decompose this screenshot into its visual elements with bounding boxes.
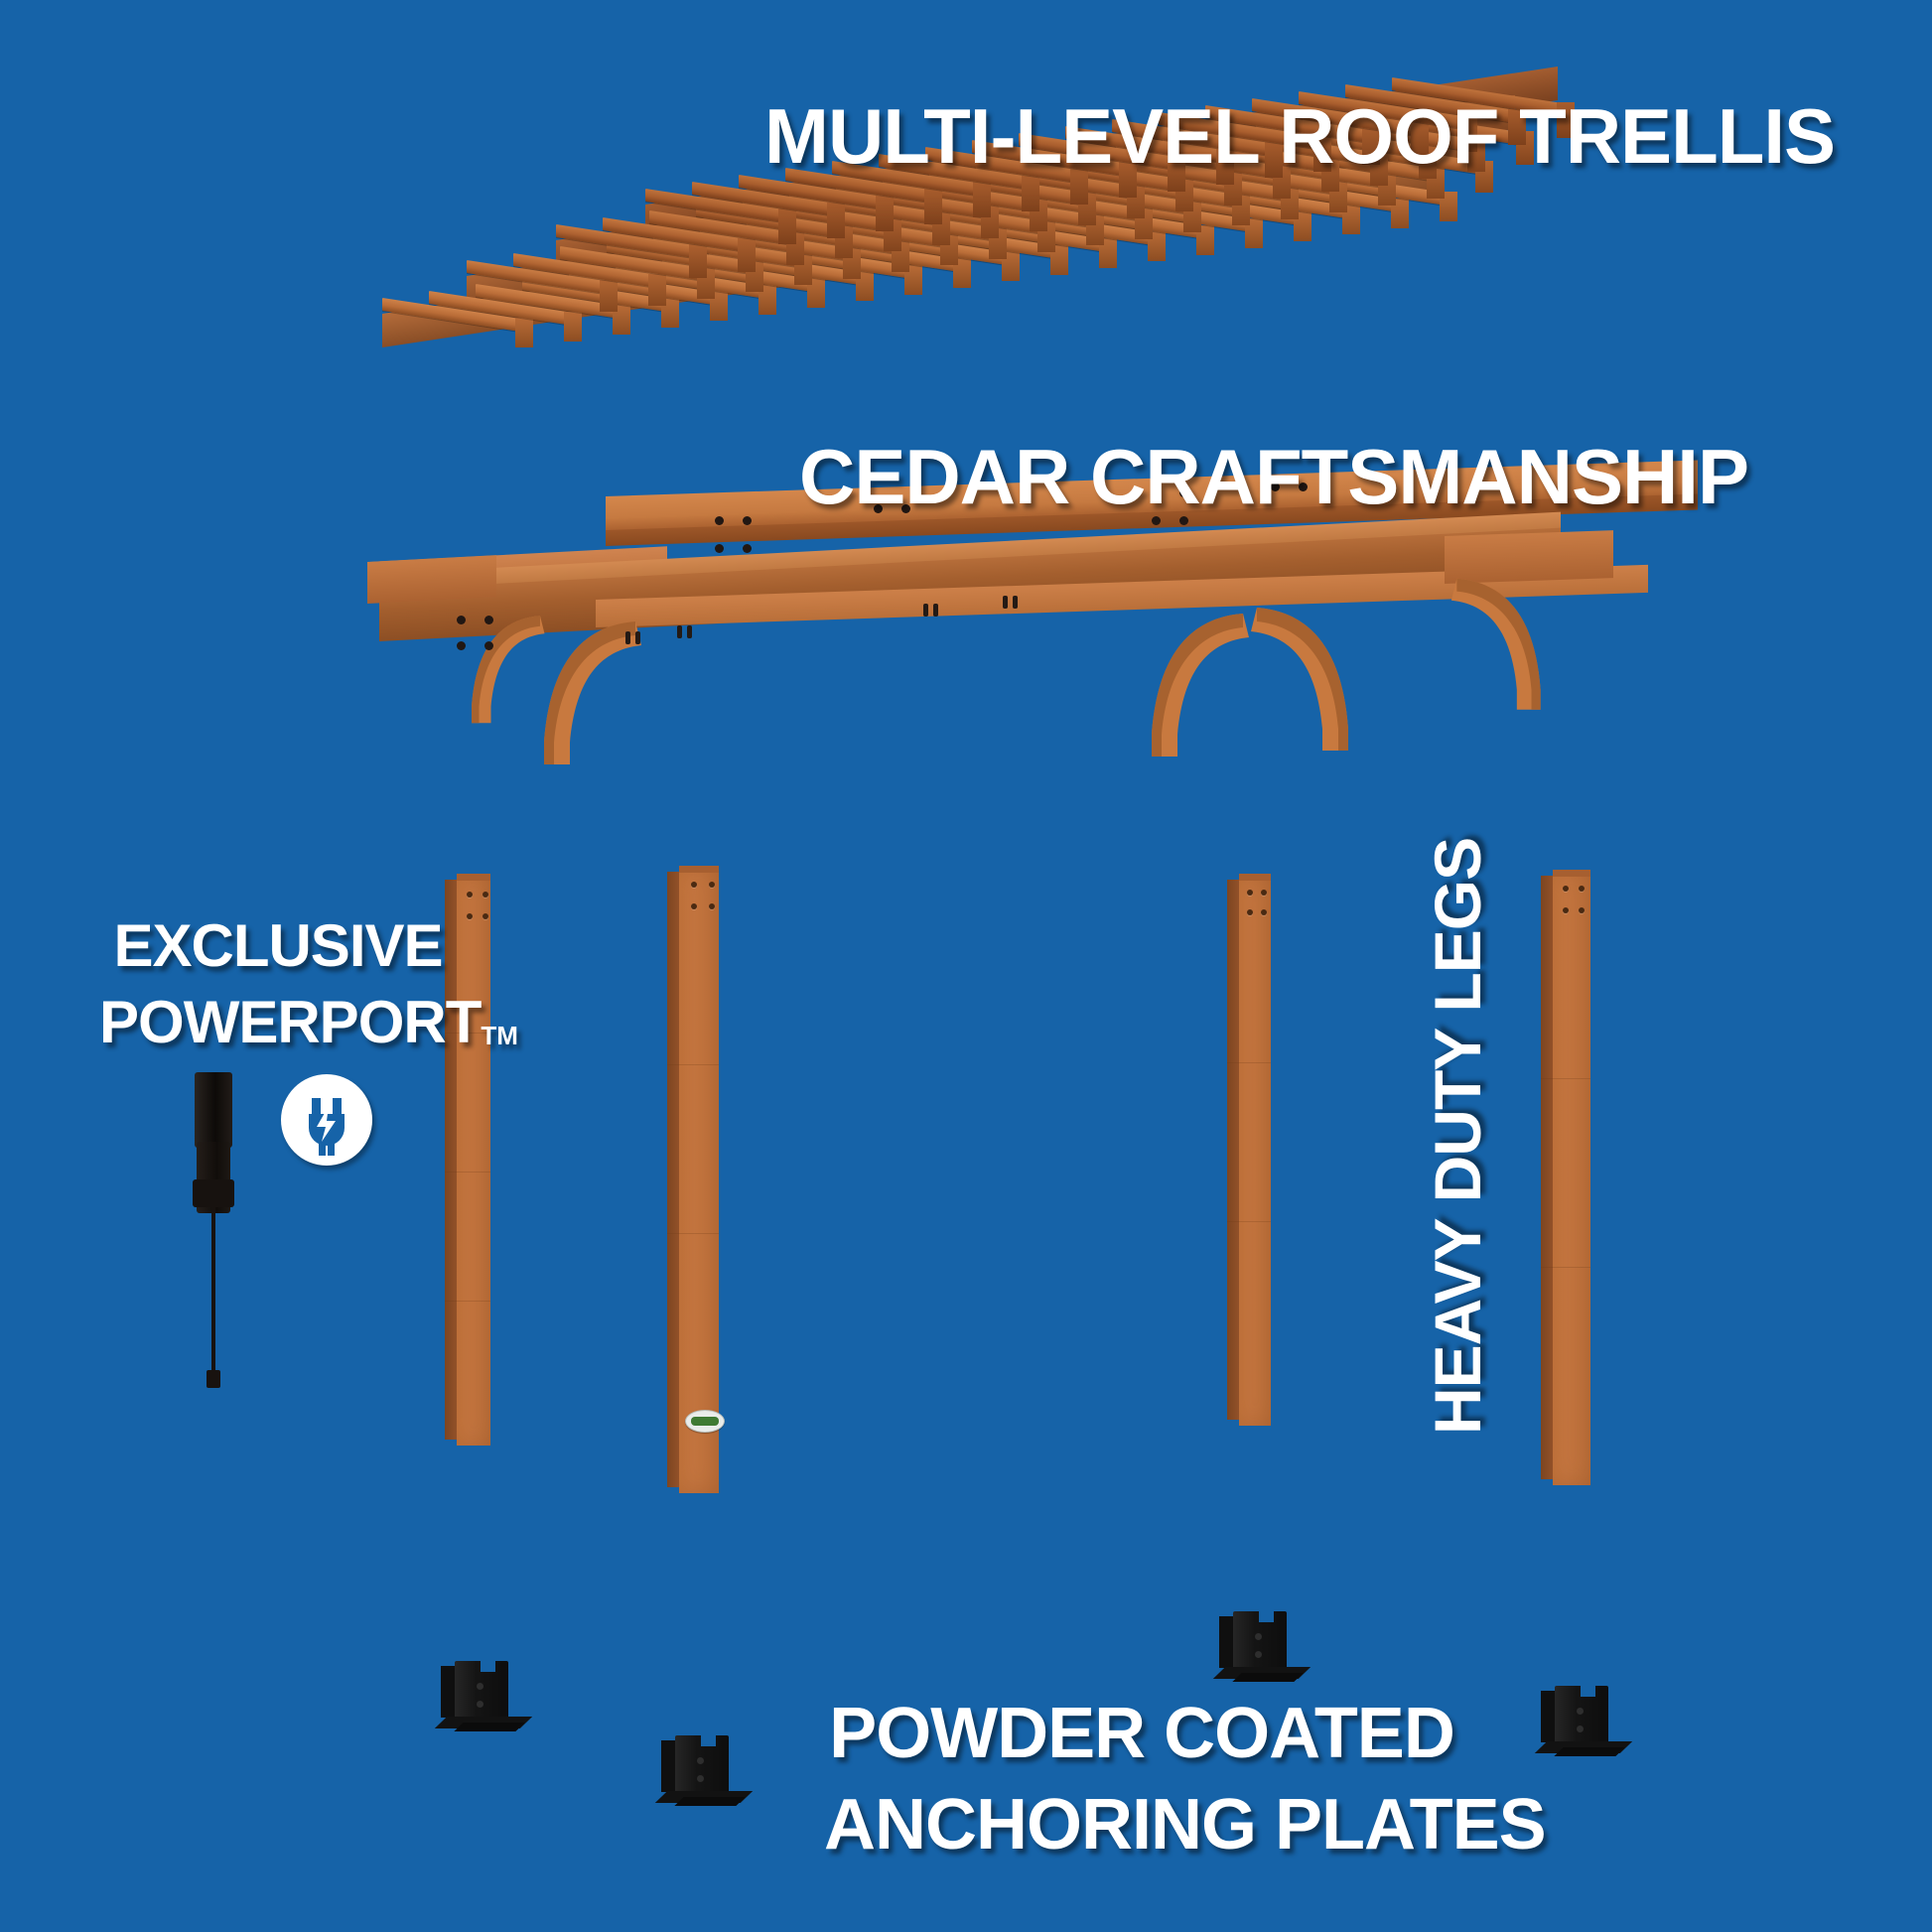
wood-grain	[445, 1301, 490, 1302]
anchor-notch	[701, 1735, 716, 1746]
post-2	[667, 866, 719, 1493]
label-exclusive-powerport: EXCLUSIVE POWERPORTTM	[99, 911, 457, 1056]
post-front-face	[1553, 870, 1590, 1485]
powerport-plug	[207, 1370, 220, 1388]
anchor-screw	[1577, 1725, 1584, 1732]
roof-rafter-web	[778, 208, 796, 244]
beam-bolt	[743, 544, 752, 553]
anchor-line-1: POWDER COATED	[829, 1694, 1454, 1773]
post-front-face	[457, 874, 490, 1446]
anchor-base-plate-shadow	[454, 1723, 524, 1731]
post-bolt-hole	[467, 892, 473, 897]
anchor-screw	[1255, 1633, 1262, 1640]
anchor-plate-4	[1541, 1686, 1626, 1757]
roof-rafter-web	[515, 318, 533, 347]
wood-grain	[667, 1064, 719, 1065]
post-bolt-hole	[1563, 907, 1569, 913]
post-3	[1227, 874, 1271, 1426]
wood-grain	[1541, 1267, 1590, 1268]
wood-grain	[1541, 1078, 1590, 1079]
anchor-screw	[477, 1683, 483, 1690]
post-bolt-hole	[1261, 890, 1267, 896]
roof-rafter-web	[738, 238, 756, 272]
roof-rafter-web	[564, 312, 582, 342]
post-bolt-hole	[1247, 909, 1253, 915]
post-bolt-hole	[1261, 909, 1267, 915]
post-bolt-hole	[483, 892, 488, 897]
roof-rafter-web	[648, 274, 666, 306]
anchor-plate-2	[661, 1735, 747, 1807]
roof-rafter-web	[689, 244, 707, 278]
beam-bolt-pair	[635, 631, 640, 644]
knee-brace	[1132, 608, 1251, 757]
power-plug-bolt-icon	[281, 1074, 372, 1166]
post-bolt-hole	[709, 903, 715, 909]
anchor-plate-3	[1219, 1611, 1305, 1683]
anchor-screw	[1255, 1651, 1262, 1658]
anchor-line-2: ANCHORING PLATES	[824, 1784, 1459, 1865]
post-bolt-hole	[483, 913, 488, 919]
wood-grain	[445, 1172, 490, 1173]
anchor-base-plate-shadow	[1232, 1673, 1303, 1682]
beam-bolt-pair	[933, 604, 938, 617]
anchor-notch	[1581, 1686, 1595, 1697]
brand-sticker	[685, 1410, 725, 1433]
anchor-base-plate-shadow	[1554, 1747, 1624, 1756]
label-multi-level-roof-trellis: MULTI-LEVEL ROOF TRELLIS	[764, 91, 1835, 182]
label-heavy-duty-legs: HEAVY DUTY LEGS	[1420, 838, 1495, 1435]
anchor-screw	[697, 1775, 704, 1782]
post-front-face	[1239, 874, 1271, 1426]
post-top-cap	[1239, 874, 1271, 881]
post-4	[1541, 870, 1590, 1485]
powerport-base	[193, 1179, 234, 1207]
post-bolt-hole	[691, 882, 697, 888]
anchor-plate-1	[441, 1661, 526, 1732]
beam-bolt	[484, 641, 493, 650]
beam-bolt	[715, 544, 724, 553]
post-top-cap	[679, 866, 719, 873]
roof-rafter-web	[876, 196, 894, 231]
beam-bolt	[484, 616, 493, 624]
roof-rafter-web	[600, 280, 618, 312]
wood-grain	[1227, 1062, 1271, 1063]
knee-brace	[1249, 602, 1368, 751]
post-bolt-hole	[1579, 907, 1585, 913]
beam-bolt-pair	[1013, 596, 1018, 609]
anchor-base-plate-shadow	[674, 1797, 745, 1806]
roof-rafter-web	[827, 203, 845, 238]
beam-bolt-pair	[625, 631, 630, 644]
post-bolt-hole	[709, 882, 715, 888]
anchor-screw	[477, 1701, 483, 1708]
post-top-cap	[1553, 870, 1590, 877]
post-top-cap	[457, 874, 490, 881]
post-bolt-hole	[467, 913, 473, 919]
post-bolt-hole	[1247, 890, 1253, 896]
beam-bolt-pair	[1003, 596, 1008, 609]
wood-grain	[667, 1233, 719, 1234]
anchor-notch	[1259, 1611, 1274, 1622]
label-cedar-craftsmanship: CEDAR CRAFTSMANSHIP	[799, 432, 1748, 522]
post-front-face	[679, 866, 719, 1493]
anchor-screw	[697, 1757, 704, 1764]
beam-bolt	[457, 641, 466, 650]
roof-rafter-web	[924, 189, 942, 224]
beam-bolt	[457, 616, 466, 624]
roof-rafter-web	[973, 182, 991, 217]
post-bolt-hole	[691, 903, 697, 909]
product-exploded-view-infographic: MULTI-LEVEL ROOF TRELLIS CEDAR CRAFTSMAN…	[0, 0, 1932, 1932]
beam-bolt-pair	[923, 604, 928, 617]
powerport-cord	[211, 1205, 215, 1376]
beam-bolt	[715, 516, 724, 525]
beam-bolt	[743, 516, 752, 525]
left-end-block	[367, 555, 496, 604]
anchor-screw	[1577, 1708, 1584, 1715]
knee-brace	[1449, 572, 1559, 711]
powerport-head	[195, 1072, 232, 1148]
trademark-symbol: TM	[481, 1021, 518, 1050]
beam-bolt-pair	[677, 625, 682, 638]
powerport-line-2: POWERPORTTM	[99, 988, 457, 1056]
powerport-line-1: EXCLUSIVE	[113, 912, 442, 979]
label-powder-coated-anchoring-plates: POWDER COATED ANCHORING PLATES	[824, 1693, 1459, 1865]
post-bolt-hole	[1563, 886, 1569, 892]
beam-bolt-pair	[687, 625, 692, 638]
wood-grain	[1227, 1221, 1271, 1222]
anchor-notch	[481, 1661, 495, 1672]
post-bolt-hole	[1579, 886, 1585, 892]
